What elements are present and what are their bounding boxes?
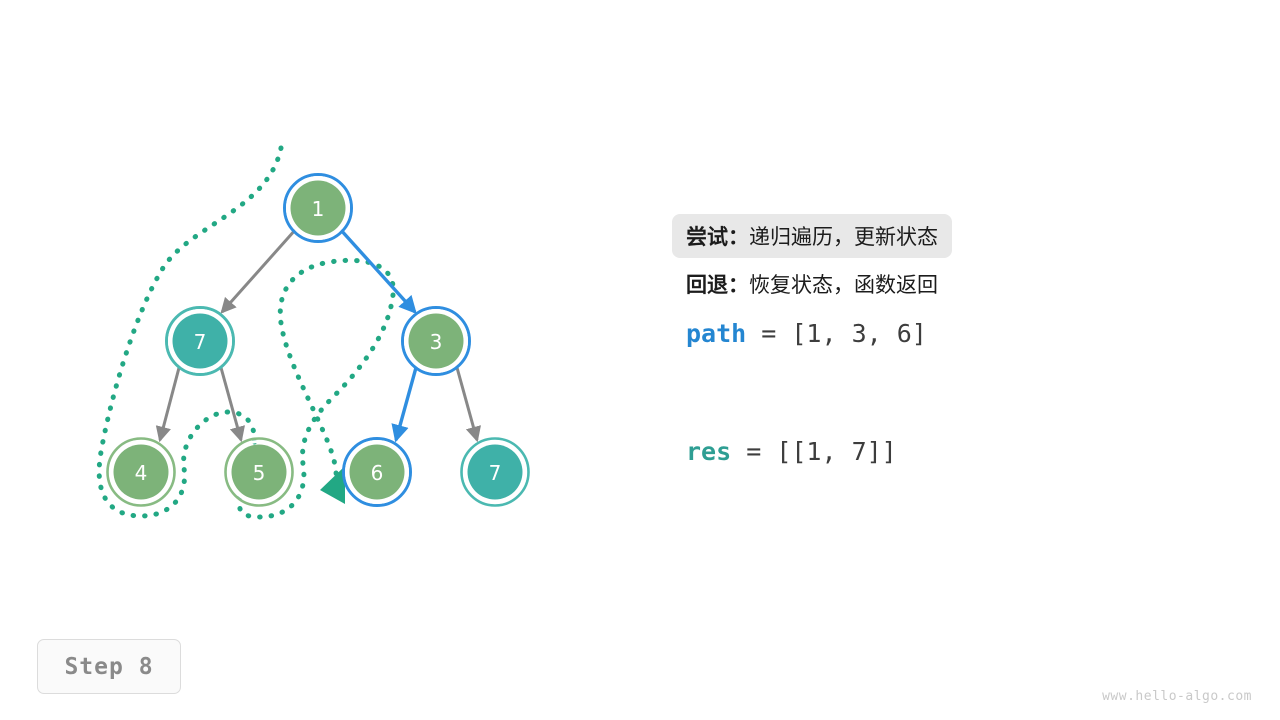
explanation-panel: 尝试：递归遍历，更新状态 回退：恢复状态，函数返回 path = [1, 3, … [686, 214, 1166, 474]
illustration-canvas: 1 7 3 4 5 [0, 0, 1280, 720]
tree-node-7-left[interactable]: 7 [167, 308, 234, 375]
tree-node-4[interactable]: 4 [108, 439, 175, 506]
panel-spacer [686, 356, 1166, 428]
try-row: 尝试：递归遍历，更新状态 [672, 214, 952, 258]
edge-1-3 [340, 229, 415, 312]
dfs-trace-arrowhead [320, 466, 345, 504]
try-text: 递归遍历，更新状态 [749, 221, 938, 251]
path-equals: = [746, 319, 791, 348]
node-value-label: 7 [489, 461, 502, 485]
node-value-label: 3 [430, 330, 443, 354]
backtrack-label: 回退： [686, 269, 749, 299]
node-value-label: 4 [135, 461, 148, 485]
res-equals: = [731, 437, 776, 466]
node-value-label: 1 [312, 197, 325, 221]
node-value-label: 5 [253, 461, 266, 485]
step-badge-label: Step 8 [64, 654, 153, 680]
step-badge: Step 8 [37, 639, 181, 694]
watermark: www.hello-algo.com [1102, 689, 1252, 704]
path-value: [1, 3, 6] [791, 319, 926, 348]
tree-node-6[interactable]: 6 [344, 439, 411, 506]
edge-7-5 [220, 364, 241, 440]
res-var-name: res [686, 437, 731, 466]
res-value: [[1, 7]] [776, 437, 896, 466]
try-label: 尝试： [686, 221, 749, 251]
tree-node-1[interactable]: 1 [285, 175, 352, 242]
node-value-label: 6 [371, 461, 384, 485]
path-variable-row: path = [1, 3, 6] [672, 310, 1166, 356]
backtrack-text: 恢复状态，函数返回 [749, 269, 938, 299]
edge-3-7 [456, 364, 477, 440]
edge-7-4 [160, 364, 180, 440]
backtrack-row: 回退：恢复状态，函数返回 [672, 262, 1166, 306]
path-var-name: path [686, 319, 746, 348]
tree-node-7-right[interactable]: 7 [462, 439, 529, 506]
tree-node-3[interactable]: 3 [403, 308, 470, 375]
res-variable-row: res = [[1, 7]] [672, 428, 1166, 474]
tree-node-5[interactable]: 5 [226, 439, 293, 506]
watermark-text: www.hello-algo.com [1102, 689, 1252, 704]
edge-1-7 [222, 229, 296, 312]
edge-3-6 [396, 364, 417, 440]
node-value-label: 7 [194, 330, 207, 354]
